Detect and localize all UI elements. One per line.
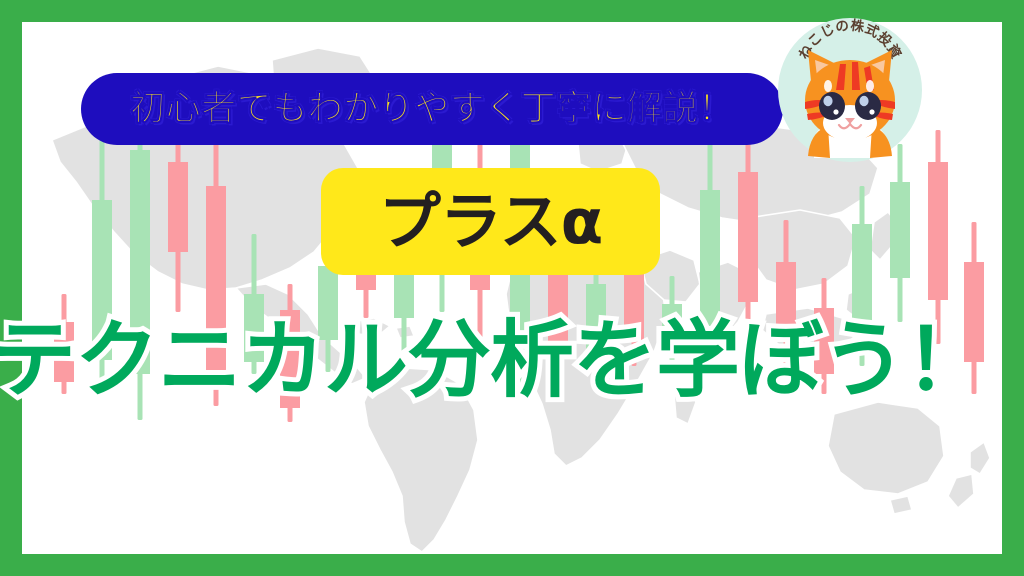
subtitle-text: プラスα [379,191,602,253]
candlestick [890,144,910,322]
banner-pill: 初心者でもわかりやすく丁寧に解説！ [81,73,783,145]
headline-container: テクニカル分析を学ぼう！ [0,310,980,410]
thumbnail-canvas: 初心者でもわかりやすく丁寧に解説！ プラスα テクニカル分析を学ぼう！ ねこじの… [0,0,1024,576]
cat-illustration [805,50,895,158]
page-title: テクニカル分析を学ぼう！ [0,318,988,402]
subtitle-box: プラスα [321,168,660,275]
brand-logo: ねこじの株式投資 [778,6,923,168]
candlestick [168,132,188,312]
banner-text: 初心者でもわかりやすく丁寧に解説！ [130,92,734,127]
